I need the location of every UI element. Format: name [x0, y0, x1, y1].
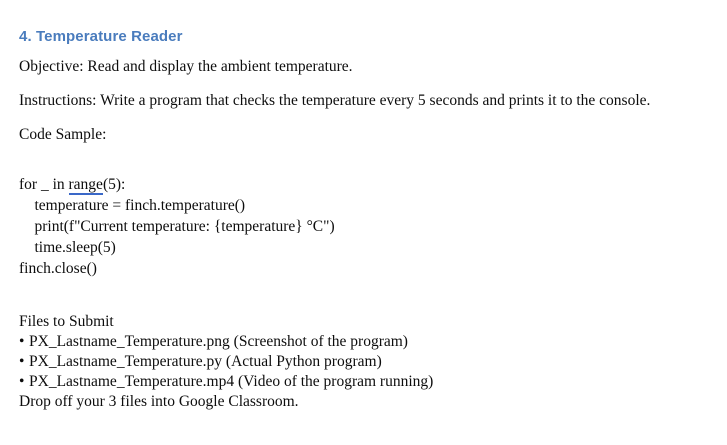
bullet-icon: • — [19, 352, 29, 372]
files-to-submit-title: Files to Submit — [19, 312, 708, 332]
list-item-label: PX_Lastname_Temperature.mp4 (Video of th… — [29, 373, 433, 390]
submit-footer: Drop off your 3 files into Google Classr… — [19, 392, 708, 412]
files-to-submit-block: Files to Submit •PX_Lastname_Temperature… — [19, 312, 708, 412]
code-line-print: print(f"Current temperature: {temperatur… — [19, 216, 708, 237]
instructions-paragraph: Instructions: Write a program that check… — [19, 91, 708, 110]
code-line-temperature: temperature = finch.temperature() — [19, 195, 708, 216]
document-page: 4. Temperature Reader Objective: Read an… — [0, 0, 727, 445]
code-line-sleep: time.sleep(5) — [19, 237, 708, 258]
code-for-prefix: for _ in — [19, 176, 69, 193]
code-sample-block: for _ in range(5): temperature = finch.t… — [19, 174, 708, 279]
bullet-icon: • — [19, 372, 29, 392]
list-item-label: PX_Lastname_Temperature.png (Screenshot … — [29, 333, 408, 350]
list-item: •PX_Lastname_Temperature.py (Actual Pyth… — [19, 352, 708, 372]
objective-paragraph: Objective: Read and display the ambient … — [19, 57, 708, 76]
list-item: •PX_Lastname_Temperature.mp4 (Video of t… — [19, 372, 708, 392]
list-item: •PX_Lastname_Temperature.png (Screenshot… — [19, 332, 708, 352]
range-link[interactable]: range — [69, 176, 103, 195]
page-title: 4. Temperature Reader — [19, 0, 708, 46]
list-item-label: PX_Lastname_Temperature.py (Actual Pytho… — [29, 353, 382, 370]
code-line-close: finch.close() — [19, 258, 708, 279]
bullet-icon: • — [19, 332, 29, 352]
code-line-for: for _ in range(5): — [19, 174, 708, 195]
code-sample-label: Code Sample: — [19, 125, 708, 144]
code-for-suffix: (5): — [103, 176, 125, 193]
